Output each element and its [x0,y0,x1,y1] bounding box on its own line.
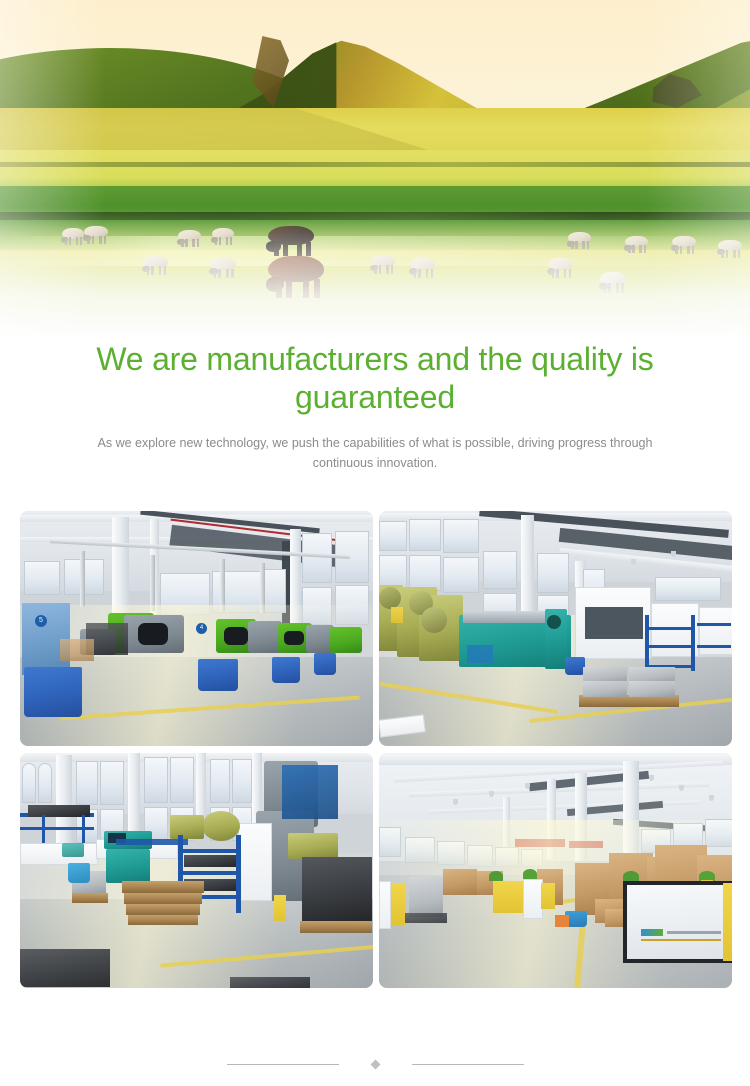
factory-photo-warehouse-aisle[interactable] [379,753,732,988]
page-subtitle: As we explore new technology, we push th… [0,433,750,473]
factory-photo-machining-workshop[interactable] [379,511,732,746]
factory-photo-gallery: 5 4 [20,511,732,988]
diamond-ornament-icon [370,1059,380,1069]
storage-bin [198,659,238,691]
factory-photo-injection-molding[interactable]: 5 4 [20,511,373,746]
divider-line-right [412,1064,524,1065]
divider-line-left [227,1064,339,1065]
partition-panel [523,879,543,919]
section-divider [0,1056,750,1072]
pallet [122,881,204,893]
hero-side-fade [0,0,750,340]
page-root: We are manufacturers and the quality is … [0,0,750,1086]
storage-bin [314,653,336,675]
hero-text-block: We are manufacturers and the quality is … [0,340,750,473]
machine-number-badge-4: 4 [196,623,207,634]
hero-scene [0,0,750,340]
page-title: We are manufacturers and the quality is … [0,340,750,416]
partition-panel [379,881,391,929]
storage-bin [24,667,82,717]
storage-bin [272,657,300,683]
machine-number-badge-5: 5 [35,615,47,627]
steel-shelving [645,615,649,671]
grassland-hero-banner [0,0,750,340]
factory-photo-assembly-area[interactable] [20,753,373,988]
